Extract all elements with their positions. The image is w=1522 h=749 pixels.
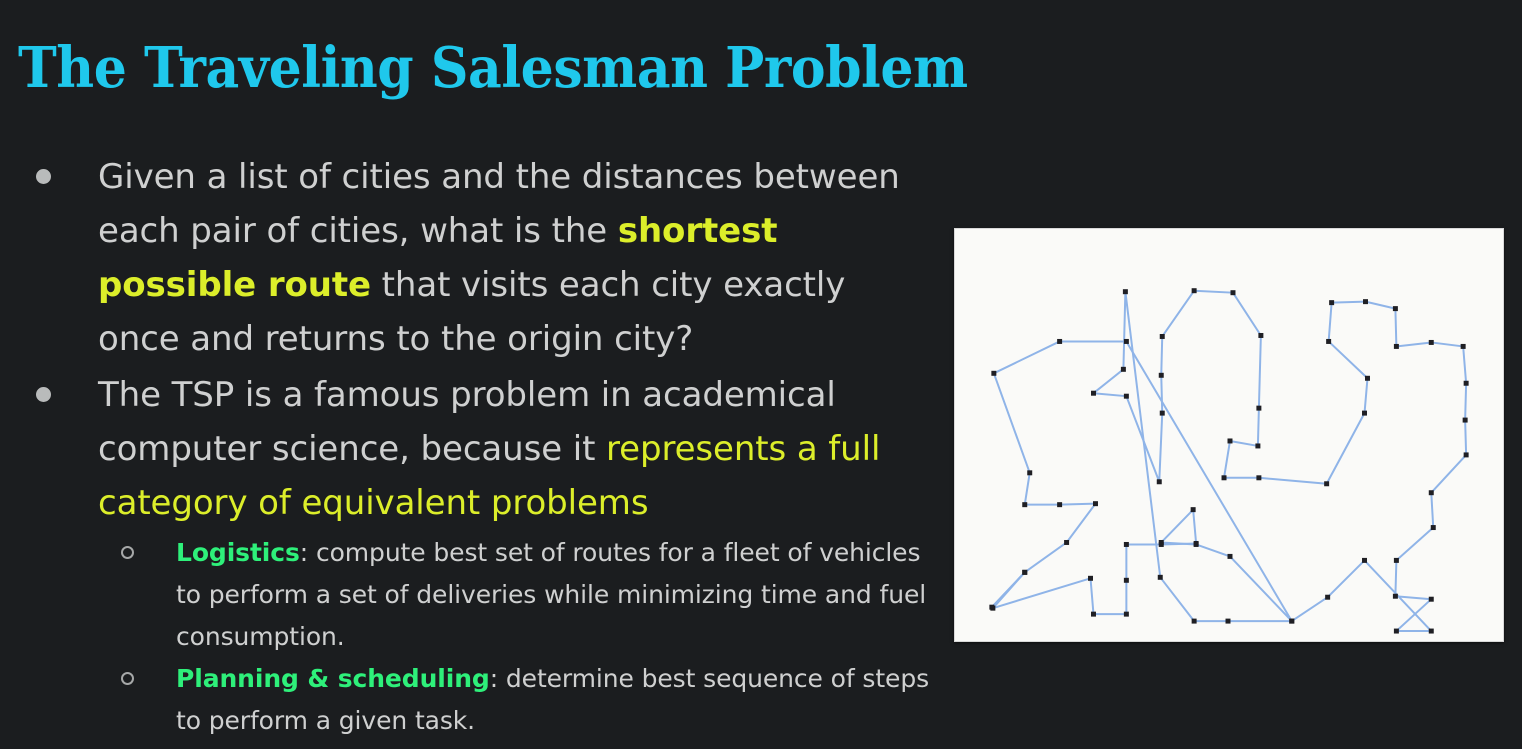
page-title: The Traveling Salesman Problem [18,36,968,100]
tsp-tour-svg [955,229,1503,641]
tsp-city-node [1461,344,1466,349]
tsp-city-node [1256,406,1261,411]
tsp-city-node [1121,367,1126,372]
slide-root: The Traveling Salesman Problem Given a l… [0,0,1522,749]
tsp-city-node [1091,612,1096,617]
tsp-city-node [1226,619,1231,624]
tsp-city-node [1159,540,1164,545]
tsp-edge [1365,378,1368,413]
tsp-city-node [1124,394,1129,399]
tsp-edge [1025,473,1030,505]
tsp-city-node [1159,373,1164,378]
tsp-city-node [1057,339,1062,344]
tsp-edge [994,373,1030,473]
tsp-city-node [1123,289,1128,294]
tsp-city-node [990,606,995,611]
tsp-edge [1093,393,1126,396]
tsp-city-node [1091,391,1096,396]
tsp-edge [1328,560,1365,597]
tsp-edge [1329,303,1332,342]
tsp-edge [1126,341,1291,621]
tsp-edge [1160,577,1194,621]
tsp-edge [1366,302,1396,309]
tsp-edge [1230,556,1292,621]
tsp-edge [1431,342,1463,346]
tsp-city-node [1088,576,1093,581]
tsp-edges-group [992,291,1466,631]
tsp-city-node [1160,334,1165,339]
tsp-edge [1161,510,1193,543]
tsp-city-node [1124,542,1129,547]
tsp-edge [1224,441,1230,478]
tsp-edge [994,341,1060,373]
sub-bullet-1-label: Logistics [176,538,300,567]
tsp-city-node [1463,418,1468,423]
disc-bullet-icon [36,169,51,184]
tsp-city-node [1191,507,1196,512]
tsp-edge [1159,413,1162,482]
tsp-city-node [1157,479,1162,484]
tsp-city-node [1228,554,1233,559]
tsp-edge [1125,292,1160,578]
tsp-edge [1259,478,1327,484]
tsp-edge [1259,335,1261,408]
tsp-edge [1332,302,1366,303]
tsp-edge [1091,578,1094,614]
tsp-edge [1230,441,1258,446]
tsp-city-node [1160,411,1165,416]
tsp-edge [1465,420,1466,455]
tsp-city-node [1194,542,1199,547]
tsp-edge [1196,544,1230,556]
tsp-city-node [1258,333,1263,338]
tsp-edge [1465,383,1466,420]
bullet-list: Given a list of cities and the distances… [0,150,935,742]
tsp-city-node [1027,470,1032,475]
tsp-city-node [1228,438,1233,443]
tsp-city-node [1429,490,1434,495]
tsp-edge [1431,493,1433,528]
tsp-edge [1258,408,1259,446]
tsp-edge [1067,504,1096,543]
tsp-city-node [1429,629,1434,634]
tsp-edge [1327,413,1365,484]
tsp-edge [1365,560,1432,631]
tsp-edge [1396,528,1433,561]
tsp-city-node [1057,502,1062,507]
tsp-city-node [1289,619,1294,624]
tsp-edge [1126,396,1159,482]
disc-bullet-icon [36,387,51,402]
tsp-edge [1161,336,1162,375]
tsp-city-node [1324,481,1329,486]
tsp-city-node [1325,595,1330,600]
tsp-city-node [1326,339,1331,344]
tsp-city-node [1464,381,1469,386]
tsp-edge [1396,342,1431,346]
tsp-city-node [1365,376,1370,381]
tsp-edge [1395,560,1396,596]
circle-bullet-icon [121,546,134,559]
tsp-edge [1193,510,1196,544]
tsp-city-node [1222,475,1227,480]
tsp-city-node [1192,619,1197,624]
sub-bullet-item-logistics: Logistics: compute best set of routes fo… [0,532,935,658]
tsp-city-node [1394,344,1399,349]
tsp-edge [1060,504,1096,505]
tsp-city-node [1464,452,1469,457]
tsp-city-node [1124,339,1129,344]
sub-bullet-2-label: Planning & scheduling [176,664,490,693]
tsp-city-node [1362,411,1367,416]
tsp-city-node [1363,299,1368,304]
tsp-edge [1162,291,1194,337]
tsp-city-node [1093,501,1098,506]
tsp-tour-figure [954,228,1504,642]
tsp-city-node [1362,558,1367,563]
tsp-city-node [1158,575,1163,580]
tsp-city-node [1393,594,1398,599]
tsp-edge [1395,309,1396,347]
tsp-city-node [1022,502,1027,507]
tsp-edge [1093,369,1123,393]
tsp-edge [1463,346,1466,383]
tsp-city-node [1230,290,1235,295]
tsp-edge [1161,375,1162,413]
tsp-edge [1292,597,1328,621]
tsp-city-node [1394,558,1399,563]
tsp-edge [1431,455,1466,493]
tsp-city-node [1124,612,1129,617]
tsp-edge [1329,341,1368,378]
tsp-edge [1194,291,1233,293]
tsp-city-node [1192,288,1197,293]
tsp-city-node [1255,443,1260,448]
bullet-item-1: Given a list of cities and the distances… [0,150,935,366]
tsp-city-node [1329,300,1334,305]
tsp-city-node [1394,629,1399,634]
bullet-1-run-1: Given a list of cities and the distances… [98,157,900,251]
tsp-edge [1123,292,1125,370]
tsp-city-node [1064,540,1069,545]
tsp-edge [1025,542,1067,572]
tsp-city-node [1429,597,1434,602]
sub-bullet-item-planning: Planning & scheduling: determine best se… [0,658,935,742]
tsp-city-node [1022,570,1027,575]
tsp-edge [993,578,1091,608]
bullet-item-2: The TSP is a famous problem in academica… [0,368,935,530]
tsp-edge [1233,293,1261,336]
tsp-city-node [991,371,996,376]
circle-bullet-icon [121,672,134,685]
tsp-city-node [1431,525,1436,530]
tsp-city-node [1256,475,1261,480]
tsp-city-node [1393,306,1398,311]
tsp-city-node [1429,340,1434,345]
tsp-city-node [1124,578,1129,583]
